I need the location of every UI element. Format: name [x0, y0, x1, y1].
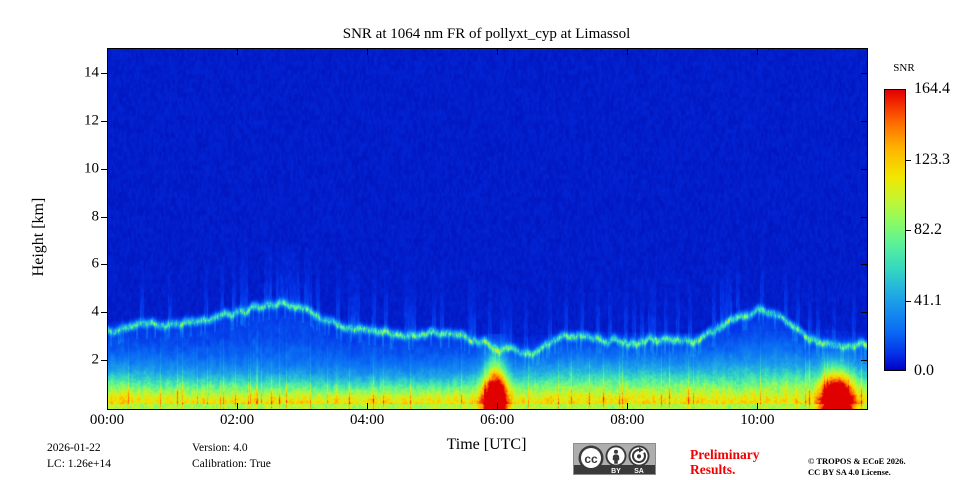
cc-by-sa-badge-icon: cc BY SA — [573, 443, 656, 475]
y-axis-tick — [861, 360, 867, 361]
y-axis-tick-label: 8 — [59, 208, 99, 225]
y-axis-tick — [861, 73, 867, 74]
colorbar-tick-label: 82.2 — [914, 221, 942, 239]
x-axis-tick — [627, 403, 628, 409]
colorbar — [884, 89, 906, 371]
x-axis-tick-label: 10:00 — [722, 412, 792, 429]
x-axis-tick — [497, 49, 498, 55]
y-axis-tick-label: 14 — [59, 65, 99, 82]
colorbar-tick-label: 123.3 — [914, 151, 950, 169]
colorbar-gradient — [884, 89, 906, 371]
snr-heatmap-canvas — [108, 49, 867, 409]
heatmap-plot-area — [107, 48, 868, 410]
copyright-line-1: © TROPOS & ECoE 2026. — [808, 456, 906, 467]
y-axis-tick — [101, 264, 107, 265]
x-axis-tick-label: 02:00 — [202, 412, 272, 429]
y-axis-tick — [101, 217, 107, 218]
preliminary-results-note: Preliminary Results. — [690, 447, 790, 477]
page-title: SNR at 1064 nm FR of pollyxt_cyp at Lima… — [107, 26, 866, 43]
colorbar-tick — [906, 160, 911, 161]
y-axis-tick — [861, 217, 867, 218]
x-axis-tick-label: 08:00 — [592, 412, 662, 429]
svg-text:cc: cc — [584, 452, 598, 466]
copyright-line-2: CC BY SA 4.0 License. — [808, 467, 906, 478]
y-axis-title: Height [km] — [30, 167, 48, 307]
y-axis-tick — [861, 121, 867, 122]
y-axis-tick — [861, 169, 867, 170]
footer-date: 2026-01-22 — [47, 442, 101, 454]
x-axis-tick — [627, 49, 628, 55]
footer-calibration: Calibration: True — [192, 458, 271, 470]
y-axis-tick-label: 6 — [59, 256, 99, 273]
y-axis-tick-label: 12 — [59, 112, 99, 129]
footer-version: Version: 4.0 — [192, 442, 248, 454]
y-axis-tick — [101, 73, 107, 74]
x-axis-tick — [237, 403, 238, 409]
x-axis-tick — [107, 403, 108, 409]
x-axis-tick — [757, 49, 758, 55]
x-axis-tick — [367, 49, 368, 55]
x-axis-tick-label: 00:00 — [72, 412, 142, 429]
quicklook-figure: SNR at 1064 nm FR of pollyxt_cyp at Lima… — [0, 0, 960, 480]
y-axis-tick — [101, 312, 107, 313]
x-axis-tick — [497, 403, 498, 409]
x-axis-tick — [237, 49, 238, 55]
colorbar-tick — [906, 230, 911, 231]
badge-by-label: BY — [611, 468, 621, 474]
colorbar-tick — [906, 301, 911, 302]
colorbar-tick-label: 41.1 — [914, 292, 942, 310]
colorbar-tick-label: 164.4 — [914, 80, 950, 98]
x-axis-tick-label: 04:00 — [332, 412, 402, 429]
x-axis-tick — [757, 403, 758, 409]
x-axis-tick-label: 06:00 — [462, 412, 532, 429]
badge-sa-label: SA — [634, 468, 644, 474]
y-axis-tick — [861, 264, 867, 265]
x-axis-tick — [367, 403, 368, 409]
y-axis-tick-label: 10 — [59, 160, 99, 177]
copyright-note: © TROPOS & ECoE 2026. CC BY SA 4.0 Licen… — [808, 456, 906, 478]
y-axis-tick — [101, 169, 107, 170]
y-axis-tick-label: 2 — [59, 352, 99, 369]
y-axis-tick — [861, 312, 867, 313]
footer-lidar-constant: LC: 1.26e+14 — [47, 458, 111, 470]
colorbar-tick-label: 0.0 — [914, 362, 934, 380]
y-axis-tick-label: 4 — [59, 304, 99, 321]
y-axis-tick — [101, 121, 107, 122]
y-axis-tick — [101, 360, 107, 361]
x-axis-tick — [107, 49, 108, 55]
colorbar-title: SNR — [884, 62, 924, 74]
